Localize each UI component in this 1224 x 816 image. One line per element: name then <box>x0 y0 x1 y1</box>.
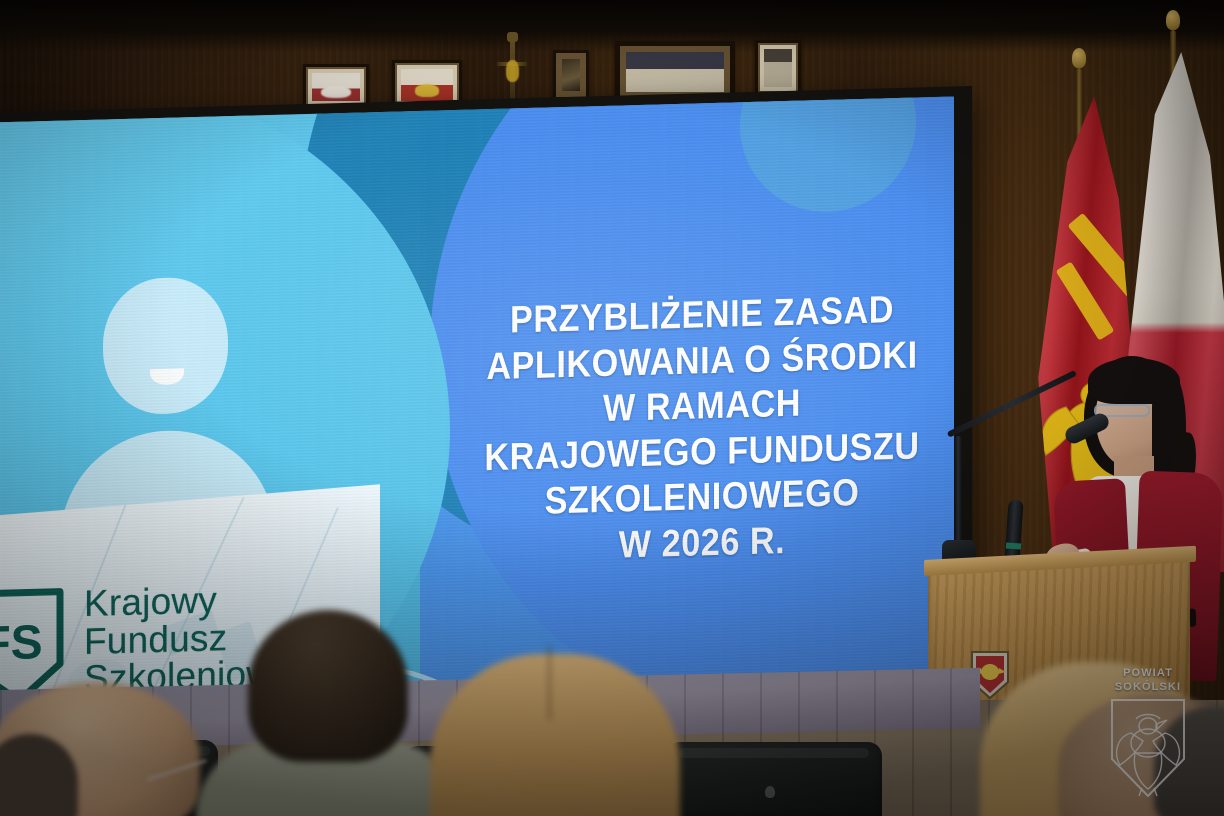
audience-head <box>248 610 408 762</box>
desk-microphone-ring <box>1006 542 1021 549</box>
chair-highlight <box>679 748 869 758</box>
frame-artwork <box>626 52 724 92</box>
crucifix <box>497 36 527 102</box>
presentation-screen: FS Krajowy Fundusz Szkoleniowy PRZYBLIŻE… <box>0 96 954 722</box>
audience-hair <box>430 654 680 816</box>
artwork-blob <box>321 86 352 98</box>
svg-text:FS: FS <box>0 616 43 671</box>
audience-hair-part <box>548 646 551 720</box>
auditorium-chair <box>666 742 882 816</box>
avatar-head-icon <box>103 276 228 415</box>
framed-picture-right <box>755 40 801 96</box>
frame-artwork <box>562 59 580 91</box>
frame-artwork <box>764 49 792 87</box>
county-flag-finial-icon <box>1072 48 1086 68</box>
chair-brand-icon <box>765 786 775 798</box>
polish-flag-finial-icon <box>1166 10 1180 30</box>
kfs-name-line-1: Krajowy <box>84 579 292 622</box>
screenshot-root: FS Krajowy Fundusz Szkoleniowy PRZYBLIŻE… <box>0 0 1224 816</box>
crucifix-figure <box>506 60 519 82</box>
crucifix-top <box>507 32 518 42</box>
frame-artwork <box>312 73 360 101</box>
audience-member-blonde <box>430 640 680 816</box>
artwork-eagle <box>415 84 440 96</box>
framed-picture-portrait <box>553 50 589 100</box>
frame-artwork <box>401 69 453 101</box>
slide-title: PRZYBLIŻENIE ZASAD APLIKOWANIA O ŚRODKI … <box>477 287 927 573</box>
audience-member-dark-hair <box>196 626 460 816</box>
ceiling-shadow <box>0 0 1224 52</box>
